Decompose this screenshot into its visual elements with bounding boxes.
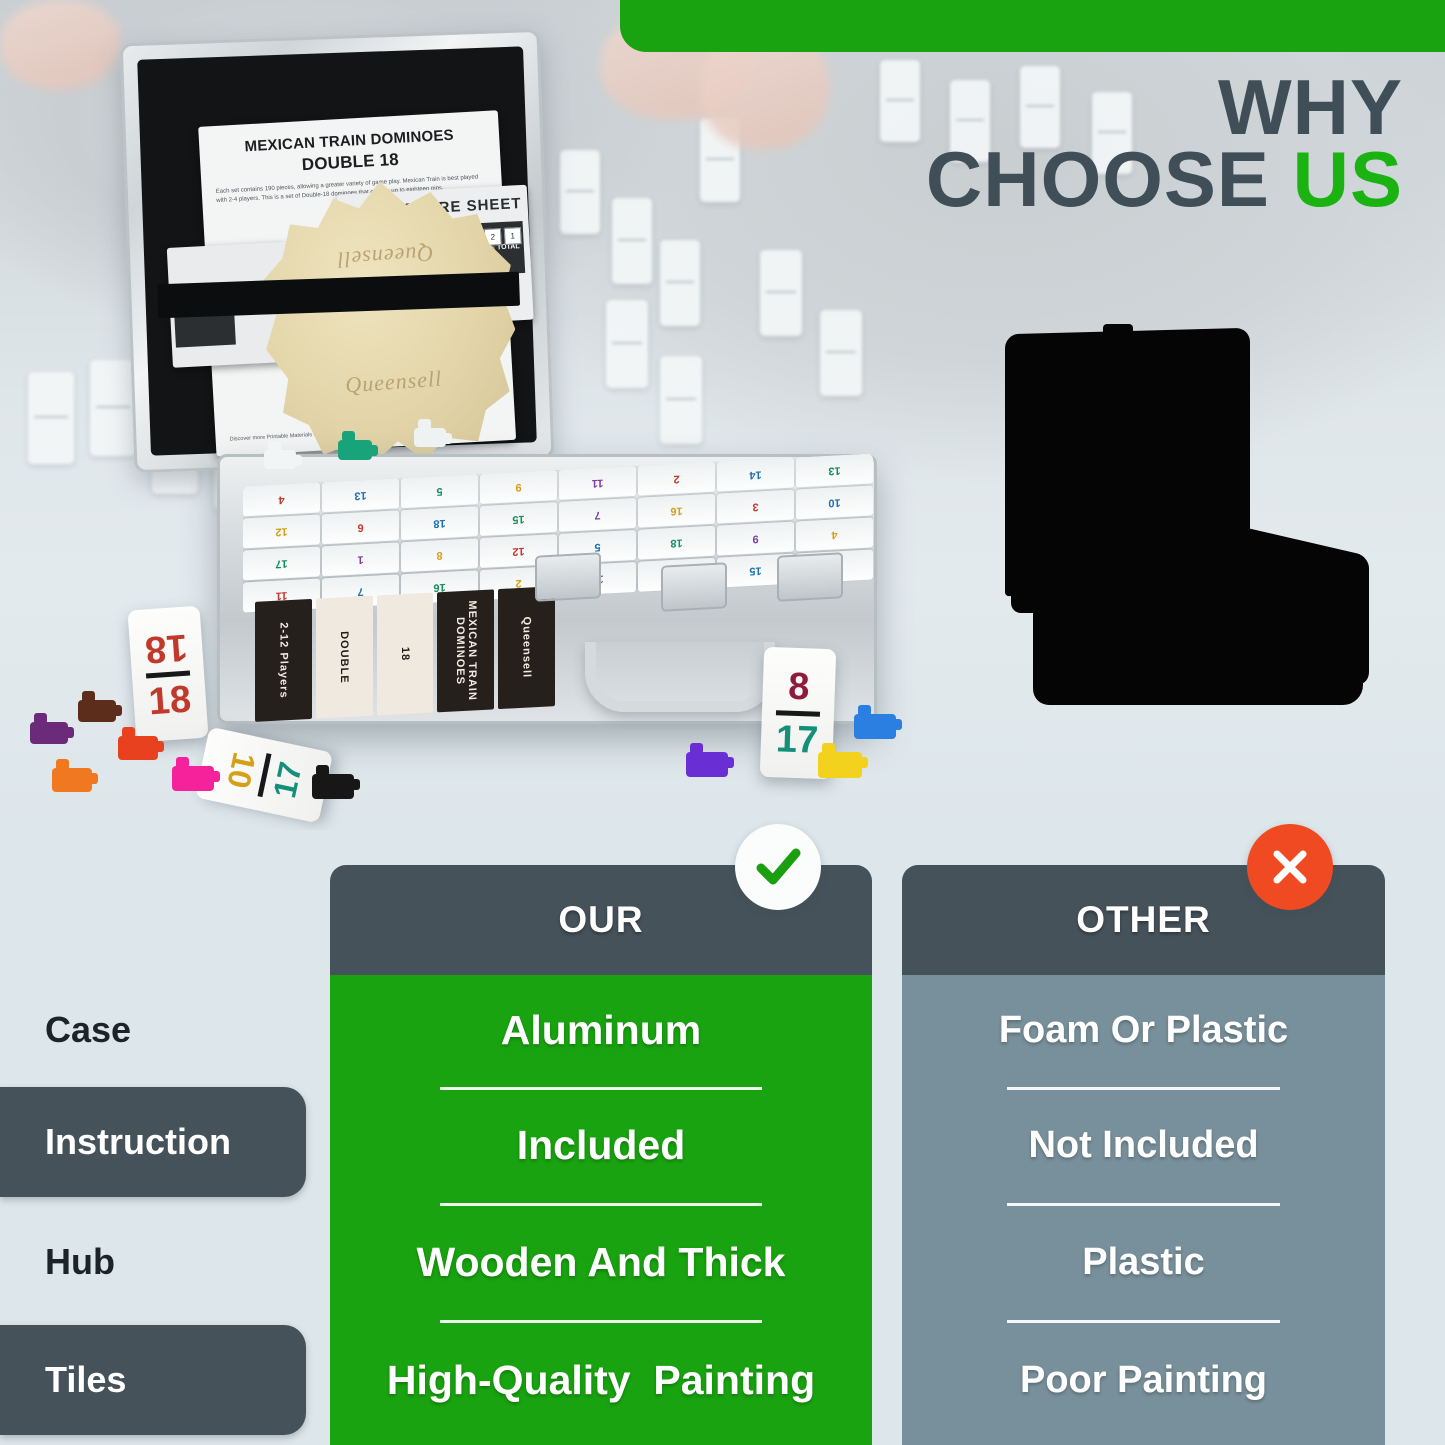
background-domino (28, 372, 74, 464)
domino-tile: 7 (559, 498, 636, 532)
train-token (30, 722, 68, 744)
domino-tile: 4 (243, 482, 320, 516)
cell-other-instruction: Not Included (902, 1090, 1385, 1200)
domino-divider (146, 670, 191, 678)
headline-line-1: WHY (926, 72, 1403, 144)
cell-our-hub: Wooden And Thick (330, 1207, 872, 1317)
domino-top-value: 18 (144, 627, 189, 668)
row-divider (1007, 1320, 1280, 1323)
domino-bottom-value: 18 (147, 680, 192, 721)
domino-tile: 16 (638, 494, 715, 528)
case-label-product: MEXICAN TRAIN DOMINOES (437, 589, 494, 712)
cell-our-instruction: Included (330, 1090, 872, 1200)
cell-other-tiles: Poor Painting (902, 1325, 1385, 1435)
domino-tile: 9 (717, 522, 794, 556)
train-token (854, 714, 896, 739)
background-domino (880, 60, 920, 142)
player-hand (0, 0, 120, 90)
headline-us: US (1293, 135, 1403, 223)
train-token (414, 428, 446, 447)
train-token (172, 766, 214, 791)
domino-tile: 3 (717, 490, 794, 524)
case-latch (777, 552, 843, 601)
domino-tile: 14 (717, 458, 794, 492)
train-token (818, 752, 862, 778)
row-divider (1007, 1203, 1280, 1206)
row-label-column: Case Instruction Hub Tiles (0, 975, 330, 1445)
domino-tile: 17 (243, 546, 320, 580)
comparison-table: OUR OTHER Case Instruction Hub Tiles Alu… (0, 830, 1445, 1445)
row-divider (440, 1203, 762, 1206)
train-token (52, 768, 92, 792)
column-body-our: Aluminum Included Wooden And Thick High-… (330, 975, 872, 1445)
cell-other-hub: Plastic (902, 1207, 1385, 1317)
hub-brand-bottom: Queensell (268, 360, 519, 403)
headline-line-2: CHOOSE US (926, 144, 1403, 216)
row-label-hub: Hub (0, 1207, 306, 1317)
domino-tile: 10 (796, 485, 873, 519)
domino-tile: 11 (559, 466, 636, 500)
case-front-label: 2-12 Players DOUBLE 18 MEXICAN TRAIN DOM… (255, 586, 555, 722)
domino-bottom-value: 17 (775, 720, 819, 759)
train-token (312, 774, 354, 799)
competitor-black-case (985, 313, 1405, 713)
train-token (686, 752, 728, 777)
train-token (118, 736, 158, 760)
cell-our-tiles: High-Quality Painting (330, 1325, 872, 1435)
domino-tile: 9 (480, 470, 557, 504)
domino-tile: 13 (322, 478, 399, 512)
row-label-instruction: Instruction (0, 1087, 306, 1197)
row-label-case: Case (0, 975, 306, 1085)
domino-tile: 18 (401, 506, 478, 540)
page-title: WHY CHOOSE US (926, 72, 1403, 216)
case-label-number: 18 (377, 593, 434, 716)
case-handle (585, 642, 775, 712)
case-latch (535, 552, 601, 601)
domino-top-value: 10 (222, 749, 261, 790)
row-label-tiles: Tiles (0, 1325, 306, 1435)
train-token (264, 450, 296, 469)
case-label-brand: Queensell (498, 586, 555, 709)
domino-top-value: 8 (788, 667, 810, 706)
train-token (338, 440, 372, 460)
hub-brand-top: Queensell (259, 235, 510, 278)
cell-our-case: Aluminum (330, 975, 872, 1085)
case-base-silhouette (1033, 565, 1363, 705)
cross-icon (1247, 824, 1333, 910)
domino-divider (776, 710, 821, 717)
case-latch (661, 562, 727, 611)
infographic-page: WHY CHOOSE US MEXICAN TRAIN DOMINOES DOU… (0, 0, 1445, 1445)
domino-tile: 15 (480, 502, 557, 536)
case-label-players: 2-12 Players (255, 599, 312, 722)
aluminum-case: MEXICAN TRAIN DOMINOES DOUBLE 18 Each se… (105, 22, 865, 812)
column-header-other-label: OTHER (1076, 899, 1211, 941)
domino-tile: 6 (322, 510, 399, 544)
cell-other-case: Foam Or Plastic (902, 975, 1385, 1085)
domino-tile: 4 (796, 517, 873, 551)
domino-tile: 12 (243, 514, 320, 548)
product-photo-area: WHY CHOOSE US MEXICAN TRAIN DOMINOES DOU… (0, 0, 1445, 830)
instruction-title: MEXICAN TRAIN DOMINOES DOUBLE 18 (209, 125, 491, 180)
domino-bottom-value: 17 (268, 759, 307, 800)
domino-tile: 8 (401, 538, 478, 572)
column-body-other: Foam Or Plastic Not Included Plastic Poo… (902, 975, 1385, 1445)
column-header-our-label: OUR (558, 899, 643, 941)
score-cell: 1 (504, 227, 522, 245)
domino-tile: 2 (638, 462, 715, 496)
headline-choose: CHOOSE (926, 135, 1293, 223)
domino-tile: 5 (401, 474, 478, 508)
domino-tile: 1 (322, 542, 399, 576)
case-label-double: DOUBLE (316, 596, 373, 719)
foreground-domino: 18 18 (127, 606, 208, 743)
train-token (78, 700, 116, 722)
domino-tile: 18 (638, 526, 715, 560)
row-divider (440, 1320, 762, 1323)
lid-interior: MEXICAN TRAIN DOMINOES DOUBLE 18 Each se… (137, 46, 537, 455)
check-icon (735, 824, 821, 910)
case-lid: MEXICAN TRAIN DOMINOES DOUBLE 18 Each se… (120, 29, 555, 473)
domino-tile: 13 (796, 453, 873, 487)
